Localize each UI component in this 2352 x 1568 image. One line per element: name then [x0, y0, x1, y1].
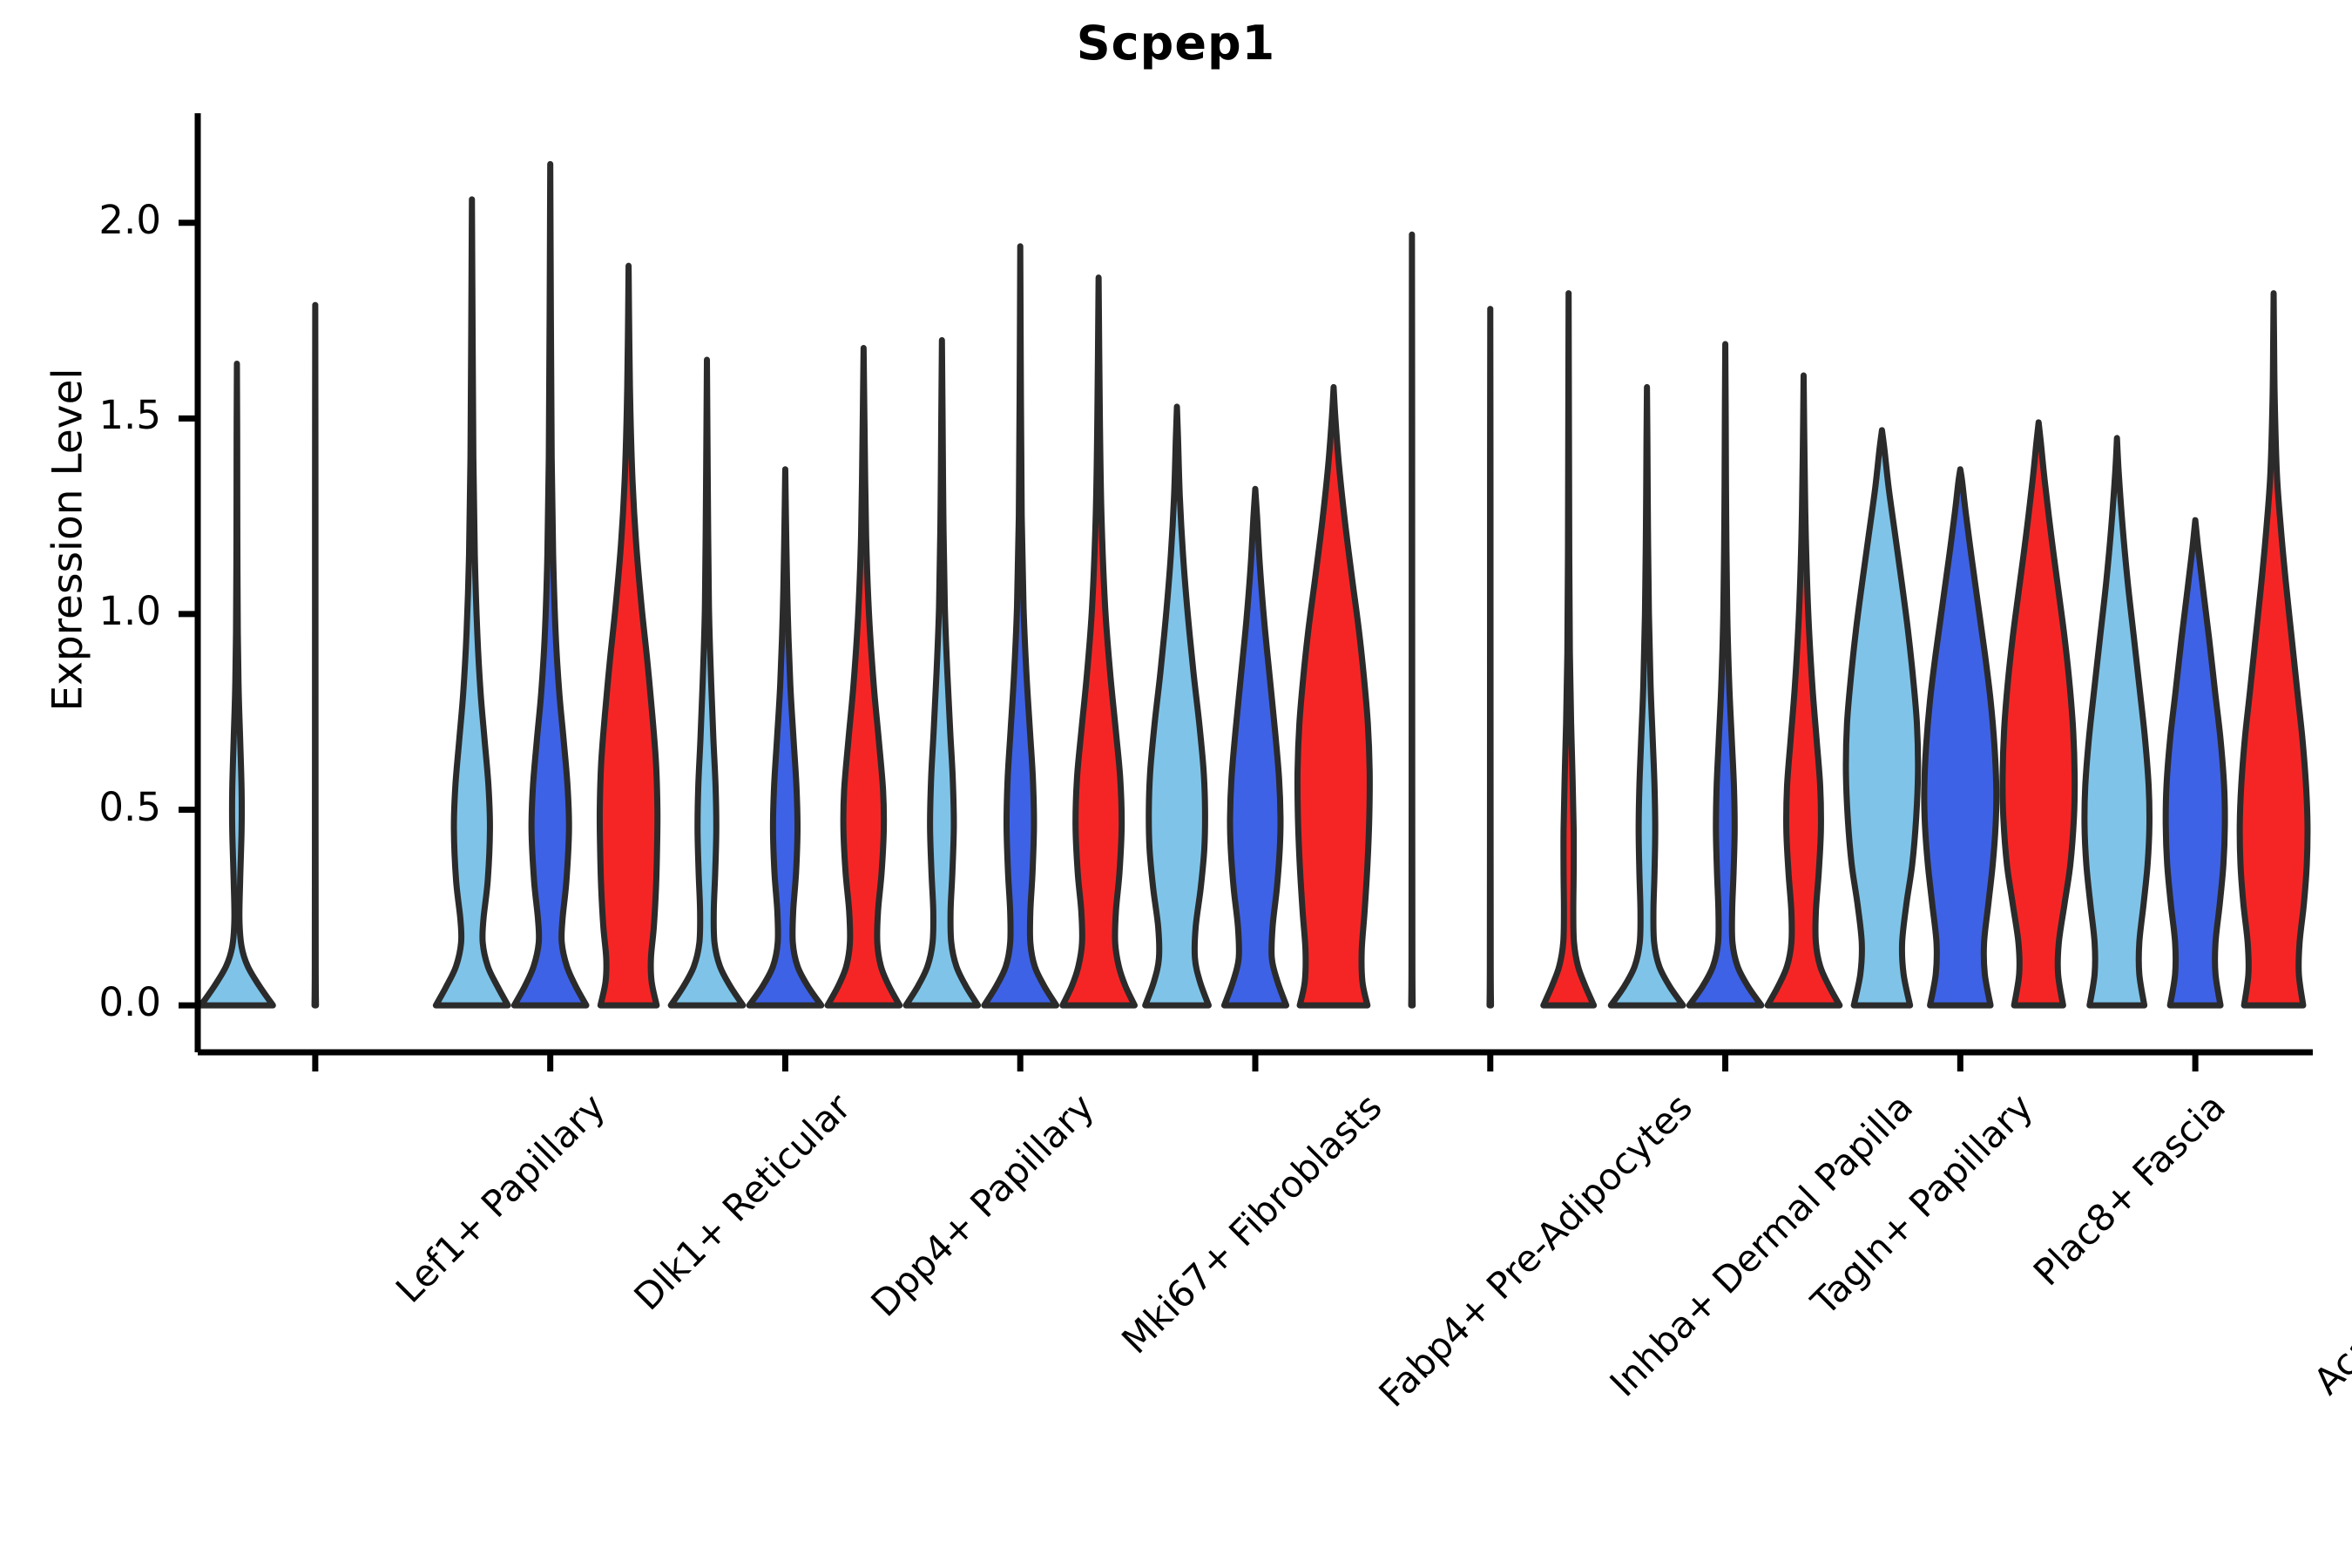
- violin-shape: [1544, 294, 1594, 1005]
- violin-shape: [1063, 278, 1135, 1005]
- violin-shape: [1490, 309, 1491, 1006]
- violin-shape: [2085, 438, 2150, 1005]
- violin-shape: [436, 199, 508, 1005]
- violin-shape: [599, 266, 657, 1005]
- violin-shape: [2240, 294, 2308, 1005]
- violin-shape: [2003, 422, 2075, 1005]
- y-tick-label: 0.0: [22, 979, 161, 1025]
- violin-shape: [201, 363, 274, 1005]
- violin-shape: [1924, 470, 1997, 1005]
- violin-shape: [1297, 387, 1369, 1005]
- violins-layer: [201, 164, 2308, 1005]
- y-tick-label: 1.0: [22, 588, 161, 634]
- violin-shape: [749, 470, 821, 1005]
- y-tick-label: 0.5: [22, 784, 161, 830]
- violin-plot-figure: Scpep1 Expression Level 0.00.51.01.52.0 …: [0, 0, 2352, 1568]
- violin-shape: [514, 164, 586, 1005]
- violin-shape: [1767, 375, 1840, 1005]
- violin-shape: [1611, 387, 1683, 1005]
- violin-shape: [1846, 430, 1918, 1005]
- violin-shape: [1146, 407, 1209, 1005]
- violin-shape: [984, 247, 1057, 1005]
- plot-canvas: [0, 0, 2352, 1568]
- violin-shape: [1689, 344, 1761, 1005]
- violin-shape: [314, 305, 316, 1005]
- violin-shape: [671, 360, 743, 1005]
- y-tick-label: 1.5: [22, 392, 161, 438]
- violin-shape: [2166, 520, 2225, 1005]
- violin-shape: [906, 341, 978, 1006]
- violin-shape: [828, 348, 900, 1006]
- violin-shape: [1224, 489, 1286, 1005]
- violin-shape: [1411, 234, 1413, 1005]
- y-tick-label: 2.0: [22, 197, 161, 243]
